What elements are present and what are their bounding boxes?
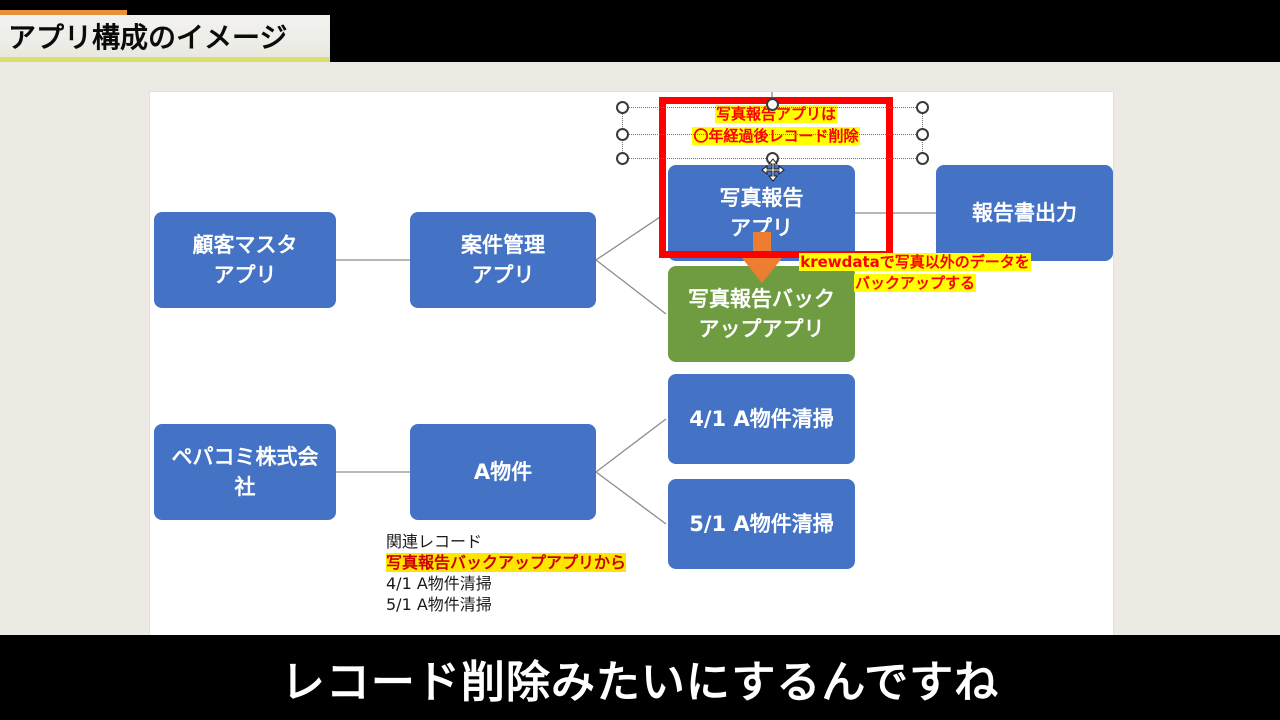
related-records-heading: 関連レコード <box>386 531 626 552</box>
related-records-item: 5/1 A物件清掃 <box>386 594 626 615</box>
related-records-block: 関連レコード 写真報告バックアップアプリから 4/1 A物件清掃 5/1 A物件… <box>386 531 626 615</box>
krewdata-note-line-2: バックアップする <box>854 274 976 292</box>
selection-handle-middle-left[interactable] <box>616 128 629 141</box>
subtitle-caption-bar: レコード削除みたいにするんですね <box>0 635 1280 720</box>
krewdata-note-line-1: krewdataで写真以外のデータを <box>799 253 1031 271</box>
node-label: 案件管理 アプリ <box>461 230 545 291</box>
selection-handle-middle-right[interactable] <box>916 128 929 141</box>
selection-handle-bottom-right[interactable] <box>916 152 929 165</box>
node-pepacomi-company[interactable]: ペパコミ株式会 社 <box>154 424 336 520</box>
node-label: 4/1 A物件清掃 <box>689 404 833 434</box>
node-cleaning-0401[interactable]: 4/1 A物件清掃 <box>668 374 855 464</box>
title-panel: アプリ構成のイメージ <box>0 15 330 57</box>
move-cursor-icon <box>761 158 785 182</box>
node-report-output[interactable]: 報告書出力 <box>936 165 1113 261</box>
node-label: ペパコミ株式会 社 <box>172 442 319 503</box>
node-label: 5/1 A物件清掃 <box>689 509 833 539</box>
related-records-highlight: 写真報告バックアップアプリから <box>386 552 626 573</box>
related-records-item: 4/1 A物件清掃 <box>386 573 626 594</box>
red-annotation-text: 写真報告アプリは 〇年経過後レコード削除 <box>668 104 884 148</box>
selection-handle-top-left[interactable] <box>616 101 629 114</box>
selection-handle-top-center[interactable] <box>766 98 779 111</box>
node-project-management[interactable]: 案件管理 アプリ <box>410 212 596 308</box>
krewdata-annotation-text: krewdataで写真以外のデータを バックアップする <box>780 252 1050 294</box>
selection-handle-bottom-left[interactable] <box>616 152 629 165</box>
screen: アプリ構成のイメージ 顧客マスタ アプリ <box>0 0 1280 720</box>
selection-handle-top-right[interactable] <box>916 101 929 114</box>
selection-guide-line <box>628 134 916 135</box>
node-customer-master[interactable]: 顧客マスタ アプリ <box>154 212 336 308</box>
node-cleaning-0501[interactable]: 5/1 A物件清掃 <box>668 479 855 569</box>
red-annotation-line-2: 〇年経過後レコード削除 <box>692 127 859 145</box>
slide-canvas[interactable]: 顧客マスタ アプリ 案件管理 アプリ 写真報告 アプリ 報告書出力 写真報告バッ… <box>150 92 1113 635</box>
node-label: 報告書出力 <box>972 198 1077 228</box>
subtitle-caption-text: レコード削除みたいにするんですね <box>281 646 999 710</box>
node-property-a[interactable]: A物件 <box>410 424 596 520</box>
page-title: アプリ構成のイメージ <box>0 16 287 56</box>
node-label: A物件 <box>474 457 532 487</box>
title-banner: アプリ構成のイメージ <box>0 10 330 62</box>
node-label: 顧客マスタ アプリ <box>193 230 298 291</box>
